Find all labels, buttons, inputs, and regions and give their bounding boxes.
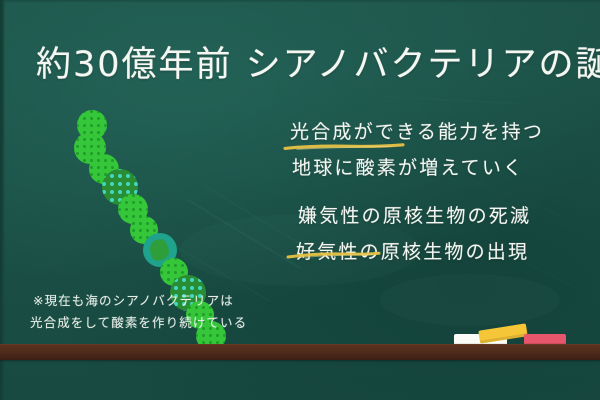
chalkboard-slide: 約30億年前 シアノバクテリアの誕生 xyxy=(0,0,600,400)
yellow-underline-stroke xyxy=(286,251,382,258)
chalk-ledge xyxy=(0,345,600,360)
cyanobacteria-illustration xyxy=(60,108,235,288)
footnote-line-1: ※現在も海のシアノバクテリアは xyxy=(33,290,234,309)
statement-line: 光合成ができる能力を持つ xyxy=(290,117,544,144)
board-edge-top xyxy=(0,0,600,3)
footnote-line-2: 光合成をして酸素を作り続けている xyxy=(30,312,247,331)
statement-line: 嫌気性の原核生物の死滅 xyxy=(298,201,531,228)
board-edge-left xyxy=(0,0,5,400)
yellow-underline-stroke xyxy=(283,143,407,150)
statement-line: 地球に酸素が増えていく xyxy=(292,153,524,180)
slide-title: 約30億年前 シアノバクテリアの誕生 xyxy=(36,36,576,87)
